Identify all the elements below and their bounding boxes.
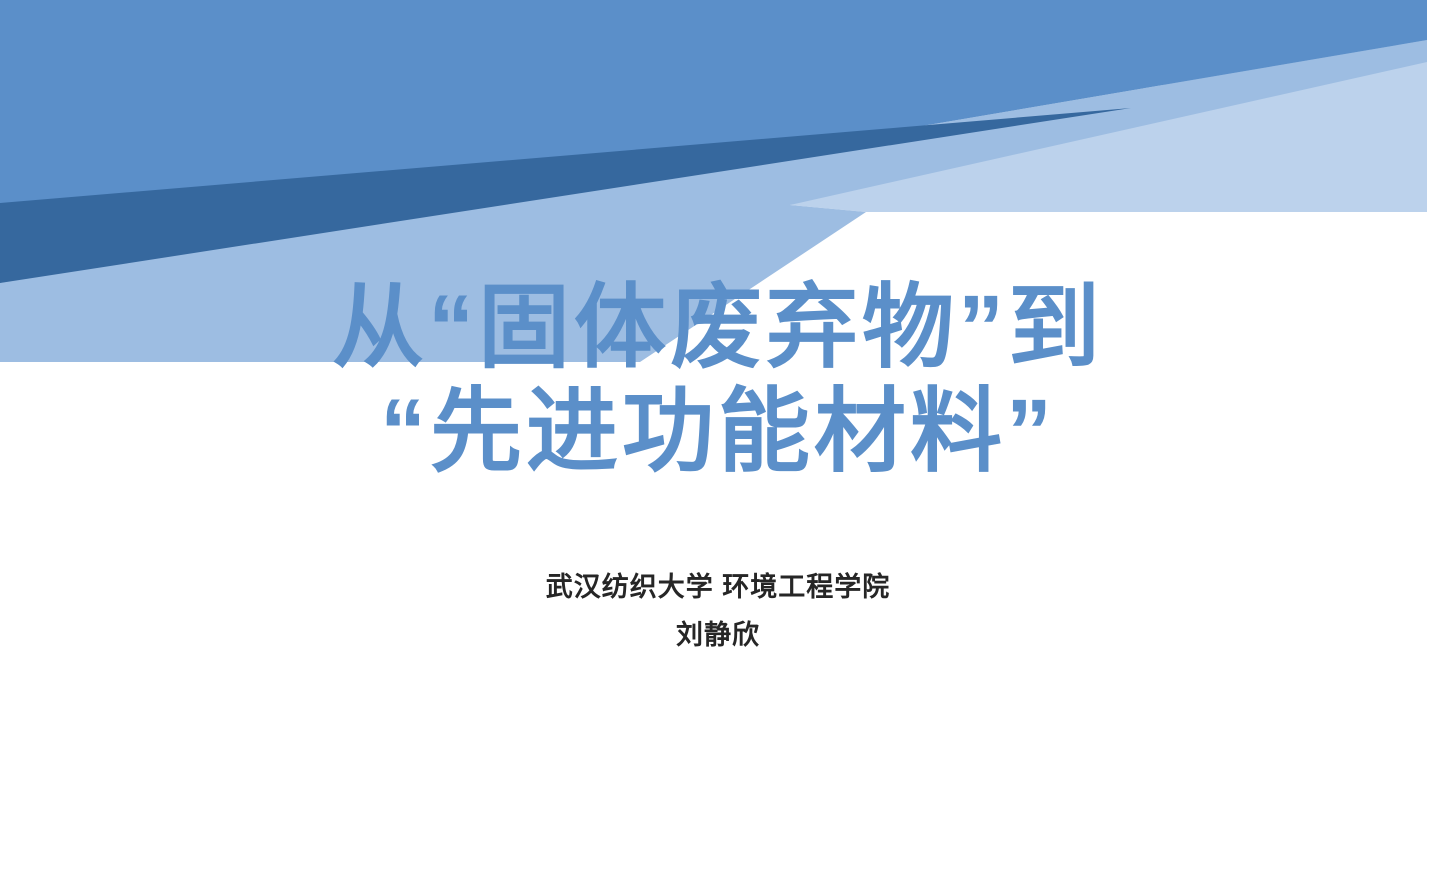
medium-blue-field xyxy=(0,0,1427,283)
pale-blue-wedge xyxy=(790,0,1427,212)
affiliation-line: 武汉纺织大学 环境工程学院 xyxy=(0,563,1436,611)
subtitle: 武汉纺织大学 环境工程学院 刘静欣 xyxy=(0,563,1436,659)
presenter-name: 刘静欣 xyxy=(0,611,1436,659)
page-title: 从“固体废弃物”到 “先进功能材料” xyxy=(0,276,1436,484)
title-line-2: “先进功能材料” xyxy=(0,380,1436,484)
dark-blue-wedge xyxy=(0,108,1131,283)
title-slide: 从“固体废弃物”到 “先进功能材料” 武汉纺织大学 环境工程学院 刘静欣 xyxy=(0,0,1436,894)
title-line-1: 从“固体废弃物”到 xyxy=(0,276,1436,380)
